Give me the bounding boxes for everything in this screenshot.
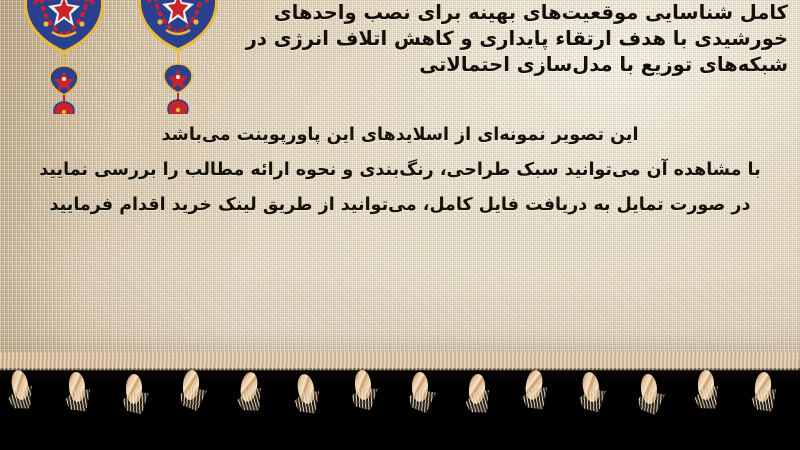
body-line-3: در صورت تمایل به دریافت فایل کامل، می‌تو… bbox=[8, 188, 792, 223]
tassel-brush bbox=[579, 389, 606, 413]
tassel-brush bbox=[235, 388, 265, 414]
fringe-tassel bbox=[175, 364, 233, 410]
fringe-tassel bbox=[518, 364, 576, 410]
fringe-tassel bbox=[461, 368, 519, 414]
slide-body-text: این تصویر نمونه‌ای از اسلایدهای این پاور… bbox=[8, 118, 792, 223]
tassel-brush bbox=[406, 388, 436, 414]
heading-line-3: شبکه‌های توزیع با مدل‌سازی احتمالاتی bbox=[28, 52, 788, 78]
carpet-background: کامل شناسایی موقعیت‌های بهینه برای نصب و… bbox=[0, 0, 800, 378]
tassel-brush bbox=[692, 386, 722, 412]
fringe-tassel bbox=[690, 364, 748, 410]
slide-text-layer: کامل شناسایی موقعیت‌های بهینه برای نصب و… bbox=[0, 0, 800, 378]
body-line-2: با مشاهده آن می‌توانید سبک طراحی، رنگ‌بن… bbox=[8, 153, 792, 188]
tassel-brush bbox=[293, 391, 320, 415]
tassel-brush bbox=[122, 391, 149, 415]
heading-line-2: خورشیدی با هدف ارتقاء پایداری و کاهش اتل… bbox=[28, 26, 788, 52]
tassel-brush bbox=[635, 390, 665, 416]
fringe-tassel bbox=[347, 364, 405, 410]
fringe-tassel bbox=[118, 368, 176, 414]
fringe-tassel bbox=[575, 366, 633, 412]
fringe-tassel bbox=[4, 364, 62, 410]
tassel-brush bbox=[350, 387, 377, 411]
fringe-tassel bbox=[290, 368, 348, 414]
fringe-tassel bbox=[233, 366, 291, 412]
tassel-brush bbox=[463, 390, 493, 416]
heading-line-1: کامل شناسایی موقعیت‌های بهینه برای نصب و… bbox=[28, 0, 788, 26]
slide-heading: کامل شناسایی موقعیت‌های بهینه برای نصب و… bbox=[28, 0, 788, 78]
fringe-tassel bbox=[633, 368, 691, 414]
fringe-tassel bbox=[61, 366, 119, 412]
fringe-tassel bbox=[747, 366, 800, 412]
tassel-brush bbox=[64, 389, 91, 413]
fringe-tassel bbox=[404, 366, 462, 412]
slide-canvas: کامل شناسایی موقعیت‌های بهینه برای نصب و… bbox=[0, 0, 800, 450]
body-line-1: این تصویر نمونه‌ای از اسلایدهای این پاور… bbox=[8, 118, 792, 153]
carpet-tassel-fringe bbox=[0, 352, 800, 398]
tassel-brush bbox=[6, 386, 36, 412]
